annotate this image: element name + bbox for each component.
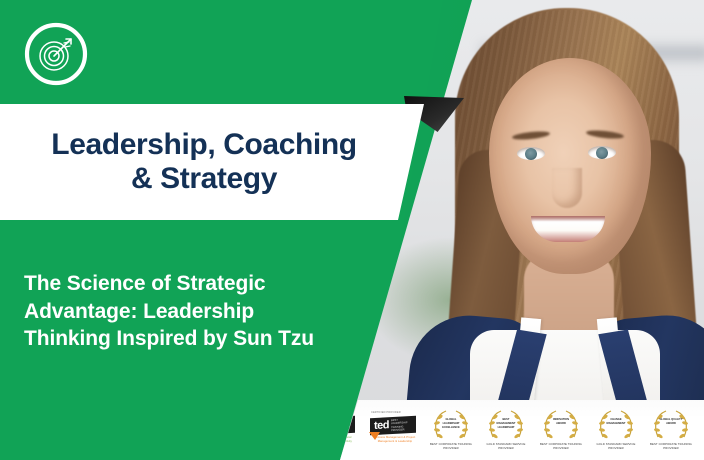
badge-caption: BEST CORPORATE TRAINING PROVIDER bbox=[538, 442, 584, 450]
badge-side-text: BEST LEADERSHIP TRAINING PROVIDER bbox=[391, 418, 413, 432]
award-badge-laurel-5: GLOBAL QUALITY AWARD BEST CORPORATE TRAI… bbox=[648, 407, 694, 453]
award-badge-laurel-4: CHANGE MANAGEMENT GOLD STANDARD SERVICE … bbox=[593, 407, 639, 453]
target-arrow-icon bbox=[23, 21, 89, 87]
promotional-banner: Leadership, Coaching & Strategy The Scie… bbox=[0, 0, 704, 460]
eye-right bbox=[588, 146, 616, 159]
award-badge-strip: CERTIFIED PROVIDER ted BEST PRESENTATION… bbox=[340, 400, 704, 460]
badge-center-text: GLOBAL LEADERSHIP EXCELLENCE bbox=[439, 418, 463, 429]
award-badge-ted-2: CERTIFIED PROVIDER ted BEST LEADERSHIP T… bbox=[367, 410, 419, 450]
badge-caption: BEST CORPORATE TRAINING PROVIDER bbox=[648, 442, 694, 450]
badge-caption: BEST CORPORATE TRAINING PROVIDER bbox=[428, 442, 474, 450]
badge-center-text: GLOBAL QUALITY AWARD bbox=[659, 418, 683, 426]
page-title: Leadership, Coaching & Strategy bbox=[0, 104, 408, 220]
subtitle: The Science of Strategic Advantage: Lead… bbox=[24, 270, 324, 353]
badge-caption: GOLD STANDARD SERVICE PROVIDER bbox=[483, 442, 529, 450]
badge-center-text: INNOVATION AWARD bbox=[549, 418, 573, 426]
iris-left bbox=[525, 148, 537, 160]
badge-caption: GOLD STANDARD SERVICE PROVIDER bbox=[593, 442, 639, 450]
badge-wordmark: ted bbox=[374, 420, 389, 432]
award-badge-laurel-3: INNOVATION AWARD BEST CORPORATE TRAINING… bbox=[538, 407, 584, 453]
title-line-2: & Strategy bbox=[131, 162, 277, 196]
nose bbox=[552, 168, 582, 208]
title-line-1: Leadership, Coaching bbox=[51, 128, 356, 162]
award-badge-laurel-2: BEST MANAGEMENT LEADERSHIP GOLD STANDARD… bbox=[483, 407, 529, 453]
eye-left bbox=[517, 147, 545, 160]
badge-center-text: CHANGE MANAGEMENT bbox=[604, 418, 628, 426]
badge-center-text: BEST MANAGEMENT LEADERSHIP bbox=[494, 418, 518, 429]
award-badge-laurel-1: GLOBAL LEADERSHIP EXCELLENCE BEST CORPOR… bbox=[428, 407, 474, 453]
badge-caption: Process Management & Project Management … bbox=[373, 436, 417, 444]
iris-right bbox=[596, 147, 608, 159]
